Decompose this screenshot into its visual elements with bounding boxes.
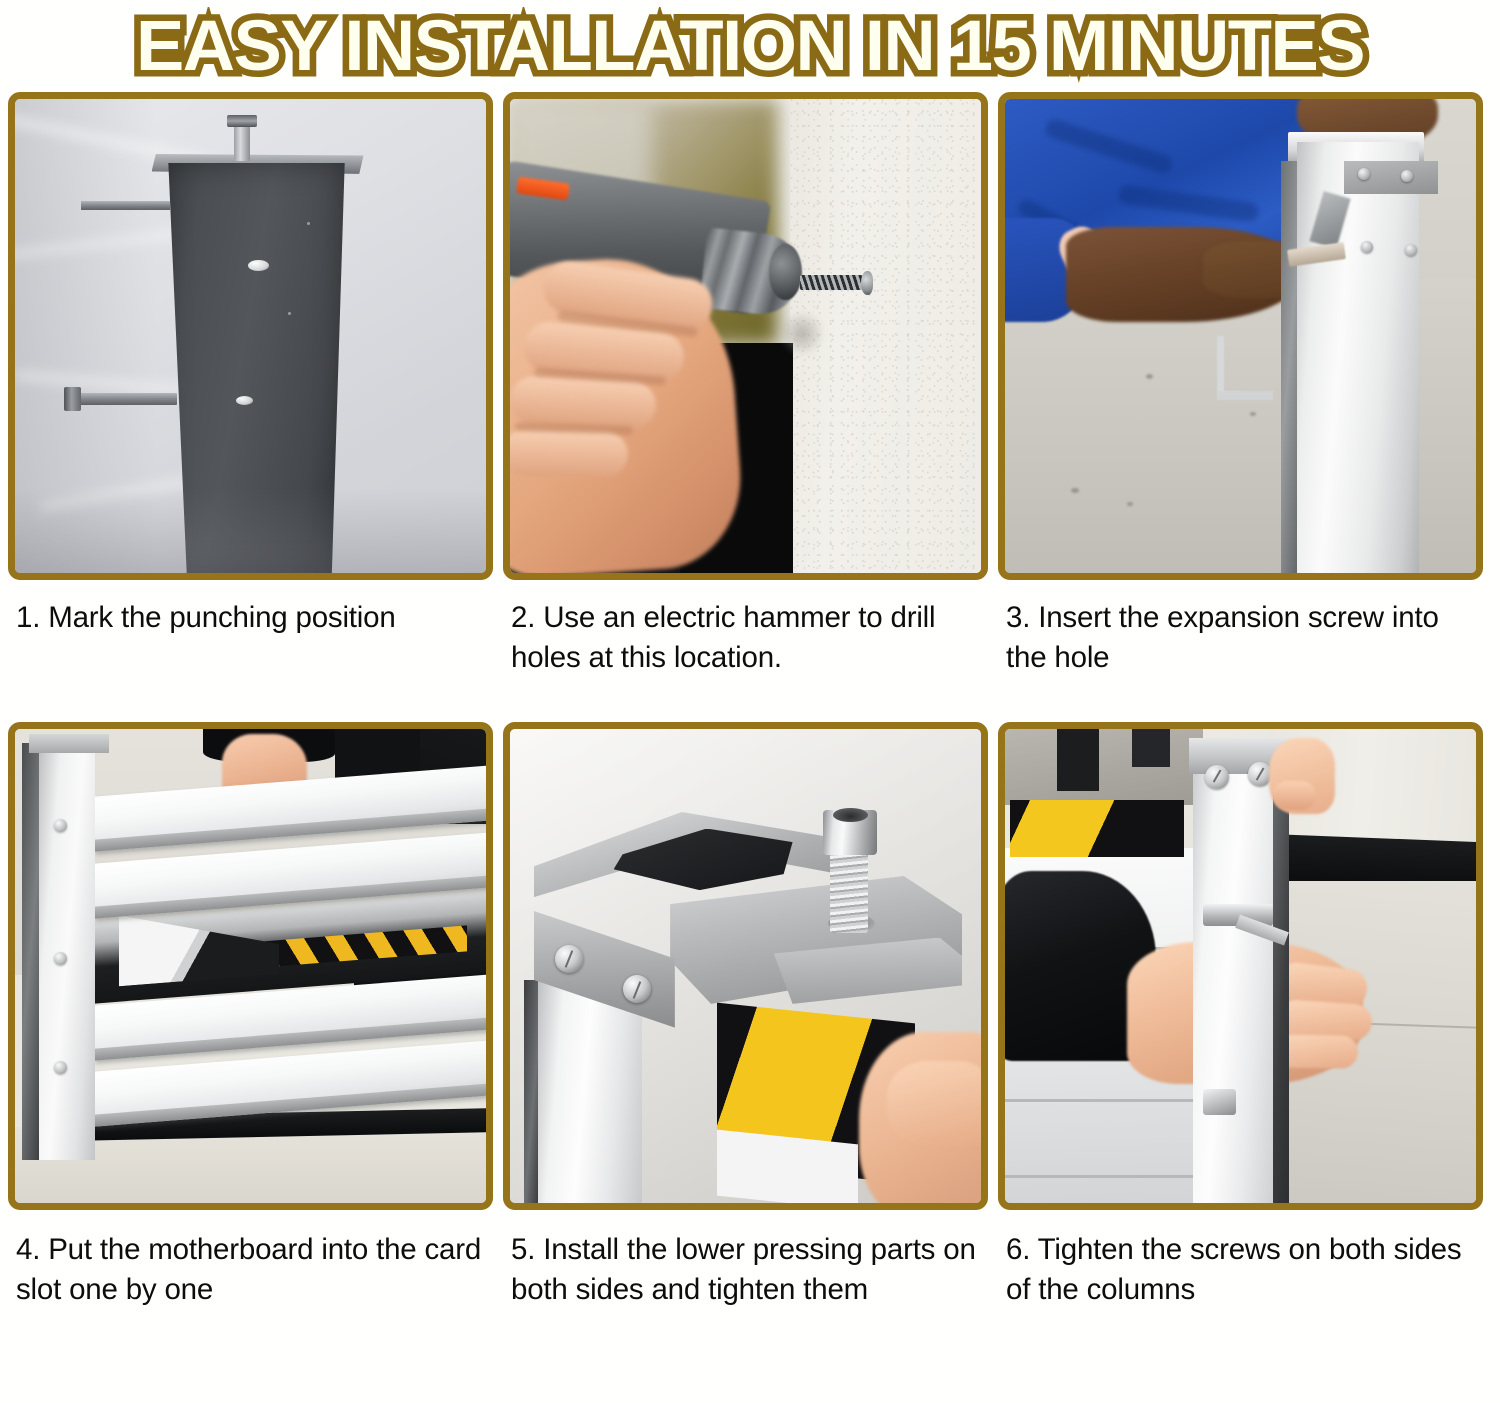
screw [555,945,583,973]
drill-dust [778,312,825,355]
background-dark-block-2 [1132,729,1170,767]
background-dark-block [1057,729,1099,791]
white-column-post [39,743,96,1160]
finger [510,430,628,477]
second-hand-fingers [1273,781,1315,809]
screw [1405,244,1417,256]
post-dark-edge [22,743,38,1160]
threaded-bolt-shaft [830,848,868,933]
screw [54,1061,67,1074]
panel-seam [1005,1099,1193,1102]
post-dark-edge [1273,748,1289,1203]
hand-fingers [887,1061,981,1146]
white-column-post [1297,142,1419,573]
step-card-4: 4. Put the motherboard into the card slo… [8,722,493,1311]
background-upper-left [1005,729,1203,805]
page-title: EASY INSTALLATION IN 15 MINUTES [136,11,1364,82]
step-2-caption: 2. Use an electric hammer to drill holes… [503,580,988,720]
floor-shadow [15,488,486,573]
screw [54,952,67,965]
allen-key-arm [1217,391,1274,400]
screw [54,819,67,832]
step-5-image-frame[interactable] [503,722,988,1210]
step-6-caption: 6. Tighten the screws on both sides of t… [998,1210,1483,1311]
steps-grid: 1. Mark the punching position [0,92,1500,1311]
step-card-1: 1. Mark the punching position [8,92,493,720]
side-bolt-shaft [69,393,177,405]
step-3-caption: 3. Insert the expansion screw into the h… [998,580,1483,720]
step-3-photo-insert-expansion-screw [1005,99,1476,573]
bolt-hex-socket [833,808,868,822]
screw [1401,170,1413,182]
step-4-photo-boards-into-card-slots [15,729,486,1203]
screw [1361,241,1373,253]
step-6-image-frame[interactable] [998,722,1483,1210]
screw [1205,765,1229,789]
step-card-6: 6. Tighten the screws on both sides of t… [998,722,1483,1311]
hazard-stripe-tape [1010,800,1184,857]
step-4-caption: 4. Put the motherboard into the card slo… [8,1210,493,1311]
top-bolt-head [227,115,257,127]
white-column-post [1193,743,1273,1203]
steps-row-2: 4. Put the motherboard into the card slo… [8,722,1492,1311]
title-banner: EASY INSTALLATION IN 15 MINUTES [0,0,1500,92]
panel-seam [1005,1175,1193,1178]
step-5-caption: 5. Install the lower pressing parts on b… [503,1210,988,1311]
drill-chuck-nose [769,244,802,301]
screw-fitting-lower [1203,1089,1236,1115]
side-bolt-head [64,387,81,411]
mounting-hole-upper [248,260,269,271]
post-top-plate [29,734,109,753]
screw [1248,762,1272,786]
step-1-image-frame[interactable] [8,92,493,580]
floor-speck [1071,488,1079,493]
step-1-photo-mark-punching-position [15,99,486,573]
step-2-image-frame[interactable] [503,92,988,580]
step-5-photo-lower-pressing-parts [510,729,981,1203]
steps-row-1: 1. Mark the punching position [8,92,1492,720]
step-card-5: 5. Install the lower pressing parts on b… [503,722,988,1311]
side-bolt-upper [81,201,170,210]
floor-speck [1250,412,1256,416]
step-6-photo-tighten-column-screws [1005,729,1476,1203]
step-2-photo-drill-holes [510,99,981,573]
step-1-caption: 1. Mark the punching position [8,580,493,720]
screw [1358,168,1370,180]
step-card-2: 2. Use an electric hammer to drill holes… [503,92,988,720]
drill-bit [800,275,866,290]
step-4-image-frame[interactable] [8,722,493,1210]
allen-key-icon [1217,336,1241,398]
drill-bit-tip [861,271,873,295]
step-3-image-frame[interactable] [998,92,1483,580]
step-card-3: 3. Insert the expansion screw into the h… [998,92,1483,720]
